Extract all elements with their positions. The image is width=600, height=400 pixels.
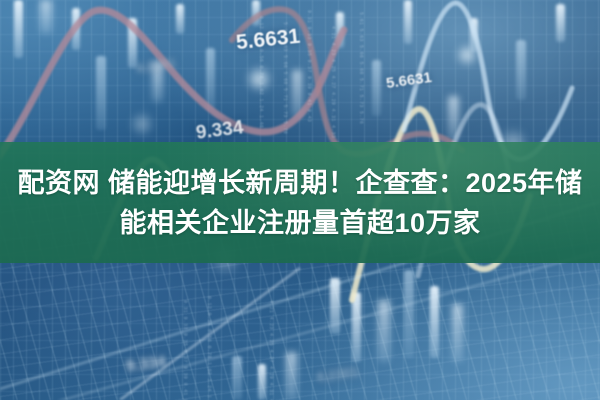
candle-bar — [352, 292, 361, 362]
candle-bar — [372, 60, 381, 116]
candle-bar — [404, 270, 414, 358]
candle-bar — [14, 0, 23, 58]
price-label: 9.334 — [195, 117, 245, 145]
axis-tick-column: 9.31 9.33 9.35 9.37 9.39 9.41 9.43 — [182, 300, 188, 400]
candle-bar — [452, 304, 463, 362]
candle-bar — [448, 96, 459, 140]
axis-tick-column: 5.61 5.63 5.66 5.68 5.71 5.73 5.76 — [358, 12, 364, 124]
price-label: 4.2301 — [135, 55, 176, 75]
axis-tick-column: 0.12 0.34 0.56 0.78 1.02 1.24 1.46 — [206, 296, 212, 400]
candle-bar — [96, 56, 106, 130]
candle-bar — [556, 4, 565, 42]
price-label: 9.334 — [125, 354, 167, 377]
candle-bar — [292, 70, 302, 118]
axis-tick-column: 9.31 9.33 9.35 9.37 9.39 9.41 9.43 — [306, 10, 312, 122]
candle-bar — [404, 0, 412, 44]
price-label: 5.6631 — [385, 69, 433, 92]
candle-bar — [330, 278, 340, 334]
banner-image: 0.12 0.34 0.56 0.78 1.02 1.24 1.46 5.61 … — [0, 0, 600, 400]
candle-bar — [470, 18, 478, 52]
candle-bar — [430, 286, 439, 358]
axis-tick-column: 4.21 4.23 4.25 4.27 4.29 4.31 4.33 — [330, 26, 336, 138]
candle-bar — [336, 12, 344, 48]
candle-bar — [206, 48, 215, 110]
bokeh-blob — [130, 112, 154, 136]
headline-line-2: 能相关企业注册量首超10万家 — [119, 204, 480, 242]
headline-text-block: 配资网 储能迎增长新周期！企查查：2025年储 能相关企业注册量首超10万家 — [0, 142, 600, 263]
price-label: 5.6631 — [235, 25, 301, 56]
candle-bar — [258, 364, 266, 400]
price-label: 4.2301 — [315, 363, 360, 385]
candle-bar — [72, 8, 80, 50]
bokeh-blob — [456, 44, 478, 66]
axis-tick-column: 4.21 4.23 4.25 4.27 4.29 4.31 4.33 — [268, 300, 274, 400]
candle-bar — [286, 352, 297, 400]
candle-bar — [176, 4, 184, 34]
headline-line-1: 配资网 储能迎增长新周期！企查查：2025年储 — [17, 164, 582, 202]
candle-bar — [40, 0, 52, 34]
candle-bar — [232, 356, 242, 400]
candle-bar — [516, 40, 526, 100]
candle-bar — [378, 300, 390, 362]
